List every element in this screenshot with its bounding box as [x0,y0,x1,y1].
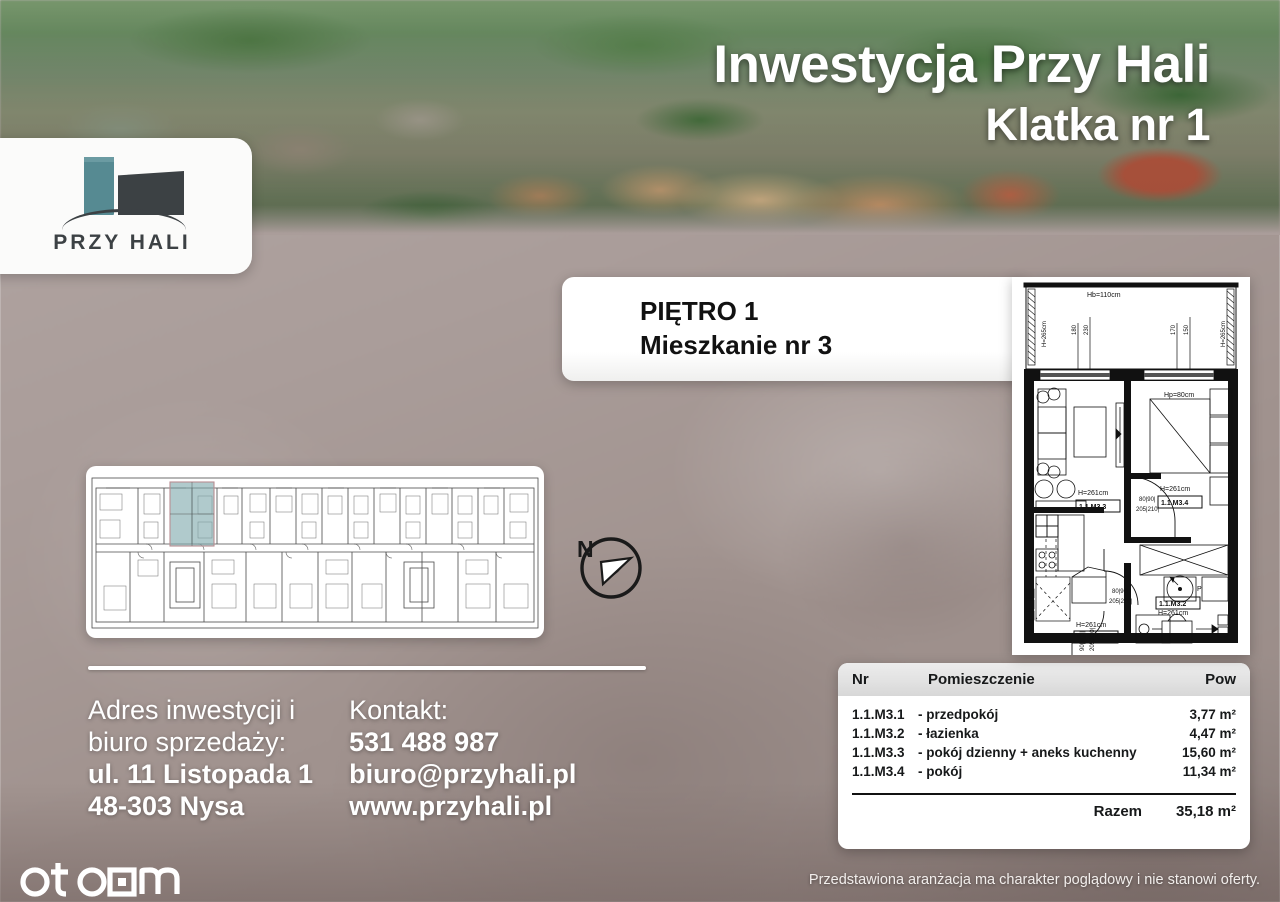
address-street: ul. 11 Listopada 1 [88,759,313,791]
logo-tower-cap-shape [84,157,114,162]
label-h265-left: H=265cm [1042,321,1048,347]
label-win-150: 150 [1184,324,1190,335]
table-row: 1.1.M3.4 - pokój 11,34 m² [852,762,1236,781]
unit-label: Mieszkanie nr 3 [640,329,1028,363]
label-hp: Hp=80cm [1164,392,1194,399]
cell-room: - pokój [918,762,1158,781]
compass-rose-svg: N [563,528,651,606]
tag-m32: 1.1.M3.2 [1159,601,1186,608]
cell-nr: 1.1.M3.4 [852,762,918,781]
label-hb: Hb=110cm [1087,292,1121,299]
table-total-row: Razem 35,18 m² [838,795,1250,820]
total-label: Razem [1094,803,1142,820]
page-title: Inwestycja Przy Hali [713,38,1210,91]
apartment-floorplan-card: Hb=110cm H=265cm H=265cm 180 230 170 150 [1012,277,1250,655]
cell-room: - przedpokój [918,705,1158,724]
wall-left [1024,381,1034,643]
label-door-a2: 205|210| [1136,507,1160,513]
page-subtitle: Klatka nr 1 [713,102,1210,147]
column-header-area: Pow [1162,671,1236,688]
cell-room: - pokój dzienny + aneks kuchenny [918,743,1158,762]
hero-title-block: Inwestycja Przy Hali Klatka nr 1 [713,38,1210,147]
poster-page: Inwestycja Przy Hali Klatka nr 1 PRZY HA… [0,0,1280,902]
contact-email[interactable]: biuro@przyhali.pl [349,759,576,791]
total-value: 35,18 m² [1158,803,1236,820]
table-header-row: Nr Pomieszczenie Pow [838,663,1250,696]
table-row: 1.1.M3.1 - przedpokój 3,77 m² [852,705,1236,724]
label-door-b1: 80|90| [1112,589,1129,595]
otodom-watermark: otodom [18,858,204,898]
building-keyplan-card [86,466,544,638]
label-door-a1: 80|90| [1139,497,1156,503]
floor-label: PIĘTRO 1 [640,295,1028,329]
compass-rose: N [563,528,651,606]
column-header-room: Pomieszczenie [928,671,1162,688]
apartment-floorplan-svg: Hb=110cm H=265cm H=265cm 180 230 170 150 [1012,277,1250,655]
label-h265-right: H=265cm [1221,321,1227,347]
compass-north-label: N [577,536,594,562]
unit-info-card: PIĘTRO 1 Mieszkanie nr 3 [562,277,1028,381]
tag-m33: 1.1.M3.3 [1079,504,1106,511]
cell-area: 15,60 m² [1158,743,1236,762]
logo-tower-shape [84,159,114,215]
building-logo-icon [52,157,192,225]
address-city: 48-303 Nysa [88,791,313,823]
table-row: 1.1.M3.3 - pokój dzienny + aneks kuchenn… [852,743,1236,762]
cell-area: 3,77 m² [1158,705,1236,724]
column-header-nr: Nr [852,671,928,688]
disclaimer-text: Przedstawiona aranżacja ma charakter pog… [809,872,1260,888]
tag-m34: 1.1.M3.4 [1161,500,1188,507]
contact-column: Kontakt: 531 488 987 biuro@przyhali.pl w… [349,695,576,822]
contact-heading: Kontakt: [349,695,576,727]
cell-nr: 1.1.M3.2 [852,724,918,743]
room-schedule-table: Nr Pomieszczenie Pow 1.1.M3.1 - przedpok… [838,663,1250,849]
label-pralka: P [1197,586,1202,593]
contact-block: Adres inwestycji i biuro sprzedaży: ul. … [88,695,576,822]
section-divider [88,666,646,670]
label-door-c2: 205|210| [1090,627,1096,651]
address-heading-line2: biuro sprzedaży: [88,727,313,759]
label-win-230: 230 [1084,324,1090,335]
address-column: Adres inwestycji i biuro sprzedaży: ul. … [88,695,313,822]
label-h261-living: H=261cm [1078,490,1108,497]
table-row: 1.1.M3.2 - łazienka 4,47 m² [852,724,1236,743]
label-h261-bath: H=261cm [1158,610,1188,617]
cell-room: - łazienka [918,724,1158,743]
cell-area: 11,34 m² [1158,762,1236,781]
cell-area: 4,47 m² [1158,724,1236,743]
label-door-b2: 205|210| [1109,599,1133,605]
logo-text: PRZY HALI [53,231,190,255]
table-body: 1.1.M3.1 - przedpokój 3,77 m² 1.1.M3.2 -… [838,696,1250,781]
label-win-180: 180 [1072,324,1078,335]
cell-nr: 1.1.M3.1 [852,705,918,724]
address-heading-line1: Adres inwestycji i [88,695,313,727]
cell-nr: 1.1.M3.3 [852,743,918,762]
label-win-170: 170 [1171,324,1177,335]
label-door-c1: 90|100| [1080,631,1086,651]
contact-website[interactable]: www.przyhali.pl [349,791,576,823]
logo-card: PRZY HALI [0,138,252,274]
building-keyplan-svg [86,466,544,638]
otodom-logo-svg: otodom [18,857,204,899]
wall-right [1228,381,1238,643]
contact-phone[interactable]: 531 488 987 [349,727,576,759]
